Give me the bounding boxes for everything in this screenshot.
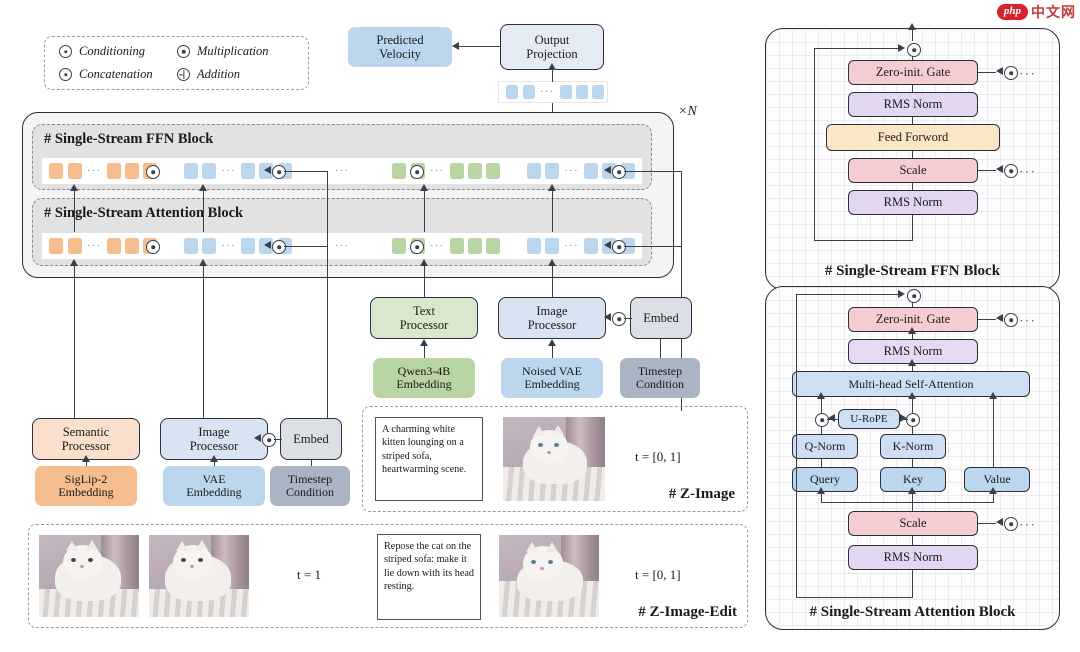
wire xyxy=(912,494,913,503)
arrow-head xyxy=(604,313,611,321)
conditioning-ellipsis: ··· xyxy=(1019,314,1036,327)
token xyxy=(125,238,139,254)
output-projection-line2: Projection xyxy=(526,47,577,61)
conditioning-icon xyxy=(1004,164,1018,178)
arrow-head xyxy=(604,241,611,249)
conditioning-ellipsis: ··· xyxy=(1019,67,1036,80)
multiplication-icon xyxy=(177,45,190,58)
output-projection-line1: Output xyxy=(535,33,570,47)
z-image-edit-source-thumbnail-1 xyxy=(39,535,139,617)
legend-item-multiplication: Multiplication xyxy=(177,44,308,59)
z-image-panel: A charming white kitten lounging on a st… xyxy=(362,406,748,512)
legend-box: Conditioning Multiplication Concatenatio… xyxy=(44,36,309,90)
arrow-head xyxy=(548,184,556,191)
box-line2: Embedding xyxy=(396,378,451,391)
conditioning-ellipsis: ··· xyxy=(1019,165,1036,178)
ffn-rms-norm-bottom-box: RMS Norm xyxy=(848,190,978,215)
arrow-head xyxy=(254,434,261,442)
ffn-rms-norm-top-box: RMS Norm xyxy=(848,92,978,117)
embed-wire-lower xyxy=(327,171,328,431)
z-image-edit-target-t-label: t = [0, 1] xyxy=(635,567,681,583)
ffn-panel-title: # Single-Stream FFN Block xyxy=(766,263,1059,280)
ffn-scale-box: Scale xyxy=(848,158,978,183)
legend-item-concatenation: Concatenation xyxy=(59,67,177,82)
wire xyxy=(912,29,913,41)
siglip2-embedding-box: SigLip-2 Embedding xyxy=(35,466,137,506)
conditioning-ellipsis: ··· xyxy=(1019,518,1036,531)
box-line1: Timestep xyxy=(288,473,332,486)
text-processor-box: Text Processor xyxy=(370,297,478,339)
token xyxy=(184,238,198,254)
ffn-block-title: # Single-Stream FFN Block xyxy=(44,131,213,148)
arrow-head xyxy=(996,165,1003,173)
token xyxy=(450,238,464,254)
residual-wire xyxy=(796,294,900,295)
arrow-head xyxy=(199,184,207,191)
arrow-head xyxy=(898,290,905,298)
token xyxy=(125,163,139,179)
wire xyxy=(624,246,682,247)
arrow-head xyxy=(908,23,916,30)
z-image-edit-prompt: Repose the cat on the striped sofa: make… xyxy=(377,534,481,620)
token-ellipsis: ··· xyxy=(430,241,445,252)
wire xyxy=(284,171,328,172)
wire xyxy=(993,494,994,503)
box-line2: Processor xyxy=(400,318,449,332)
box-line1: VAE xyxy=(202,473,225,486)
conditioning-icon xyxy=(1004,517,1018,531)
wire xyxy=(74,190,75,232)
attn-rms-norm-bottom-box: RMS Norm xyxy=(848,545,978,570)
arrow-head xyxy=(210,455,218,462)
repeat-n-label: ×N xyxy=(678,104,697,120)
box-line2: Embedding xyxy=(524,378,579,391)
box-line2: Processor xyxy=(62,439,111,453)
box-line1: Qwen3-4B xyxy=(398,365,451,378)
wire xyxy=(912,151,913,158)
wire xyxy=(900,419,908,420)
image-processor-box-lower: Image Processor xyxy=(160,418,268,460)
arrow-head xyxy=(908,327,916,334)
arrow-head xyxy=(908,392,916,399)
box-line1: Embed xyxy=(643,311,678,325)
attn-value-box: Value xyxy=(964,467,1030,492)
arrow-head xyxy=(996,67,1003,75)
wire xyxy=(912,459,913,467)
token-ellipsis: ··· xyxy=(335,166,350,177)
wire xyxy=(660,339,661,358)
token xyxy=(450,163,464,179)
residual-wire xyxy=(814,48,900,49)
timestep-condition-box-lower: Timestep Condition xyxy=(270,466,350,506)
arrow-head xyxy=(420,184,428,191)
qwen3-embedding-box: Qwen3-4B Embedding xyxy=(373,358,475,398)
wire xyxy=(552,70,553,82)
attn-q-norm-box: Q-Norm xyxy=(792,434,858,459)
arrow-head xyxy=(828,414,835,422)
wire xyxy=(624,171,682,172)
box-line2: Embedding xyxy=(186,486,241,499)
token xyxy=(392,163,406,179)
token xyxy=(68,238,82,254)
z-image-edit-output-thumbnail xyxy=(499,535,599,617)
arrow-head xyxy=(908,487,916,494)
watermark: php 中文网 xyxy=(997,2,1076,22)
multiplication-icon xyxy=(906,413,920,427)
arrow-head xyxy=(817,392,825,399)
wire xyxy=(912,183,913,190)
conditioning-icon xyxy=(410,165,424,179)
embed-box-lower: Embed xyxy=(280,418,342,460)
arrow-head xyxy=(420,259,428,266)
token xyxy=(241,238,255,254)
token xyxy=(523,85,535,99)
conditioning-icon xyxy=(146,165,160,179)
conditioning-icon xyxy=(1004,66,1018,80)
box-line2: Embedding xyxy=(58,486,113,499)
wire xyxy=(821,459,822,467)
addition-icon xyxy=(907,43,921,57)
token xyxy=(68,163,82,179)
arrow-head xyxy=(420,339,428,346)
attn-urope-box: U-RoPE xyxy=(838,409,900,429)
attn-k-norm-box: K-Norm xyxy=(880,434,946,459)
token-ellipsis: ··· xyxy=(221,241,236,252)
output-token-strip: ··· xyxy=(498,81,608,103)
token xyxy=(584,163,598,179)
image-processor-box-upper: Image Processor xyxy=(498,297,606,339)
wire xyxy=(978,319,996,320)
arrow-head xyxy=(70,184,78,191)
embed-box-upper: Embed xyxy=(630,297,692,339)
wire xyxy=(424,190,425,232)
addition-icon xyxy=(907,289,921,303)
token xyxy=(584,238,598,254)
ffn-feed-forward-box: Feed Forword xyxy=(826,124,1000,151)
wire xyxy=(912,117,913,124)
residual-wire xyxy=(814,240,913,241)
residual-wire xyxy=(796,294,797,598)
arrow-head xyxy=(908,359,916,366)
predicted-velocity-line2: Velocity xyxy=(379,47,421,61)
arrow-head xyxy=(548,259,556,266)
token xyxy=(592,85,604,99)
wire xyxy=(827,419,839,420)
token xyxy=(202,163,216,179)
box-line1: Semantic xyxy=(63,425,110,439)
arrow-head xyxy=(898,44,905,52)
attention-block-detail-panel: Zero-init. Gate RMS Norm Multi-head Self… xyxy=(765,286,1060,630)
token xyxy=(392,238,406,254)
box-line1: Image xyxy=(198,425,229,439)
box-line2: Condition xyxy=(636,378,684,391)
wire xyxy=(74,266,75,430)
conditioning-icon xyxy=(410,240,424,254)
arrow-head xyxy=(989,487,997,494)
token xyxy=(527,163,541,179)
conditioning-icon xyxy=(1004,313,1018,327)
arrow-line xyxy=(458,46,500,47)
z-image-title: # Z-Image xyxy=(669,486,735,503)
wire xyxy=(424,266,425,300)
legend-item-addition: Addition xyxy=(177,67,308,82)
token xyxy=(468,163,482,179)
arrow-head xyxy=(817,487,825,494)
ffn-block-detail-panel: Zero-init. Gate RMS Norm Feed Forword Sc… xyxy=(765,28,1060,290)
vae-embedding-box: VAE Embedding xyxy=(163,466,265,506)
concatenation-icon xyxy=(59,68,72,81)
wire xyxy=(978,170,996,171)
arrow-head xyxy=(996,314,1003,322)
semantic-processor-box: Semantic Processor xyxy=(32,418,140,460)
token xyxy=(241,163,255,179)
token xyxy=(560,85,572,99)
wire xyxy=(311,460,312,466)
wire xyxy=(424,346,425,358)
z-image-output-thumbnail xyxy=(503,417,605,501)
wire xyxy=(912,215,913,241)
noised-vae-embedding-box: Noised VAE Embedding xyxy=(501,358,603,398)
box-line2: Processor xyxy=(190,439,239,453)
wire xyxy=(203,266,204,430)
arrow-head xyxy=(604,166,611,174)
legend-item-conditioning: Conditioning xyxy=(59,44,177,59)
box-line1: Embed xyxy=(293,432,328,446)
wire xyxy=(978,523,996,524)
timestep-condition-box-upper: Timestep Condition xyxy=(620,358,700,398)
box-line1: Timestep xyxy=(638,365,682,378)
attn-query-box: Query xyxy=(792,467,858,492)
box-line1: Text xyxy=(413,304,435,318)
php-logo-icon: php xyxy=(997,4,1028,20)
wire xyxy=(203,190,204,232)
token xyxy=(468,238,482,254)
token-ellipsis: ··· xyxy=(564,241,579,252)
wire xyxy=(284,246,328,247)
token xyxy=(527,238,541,254)
token xyxy=(576,85,588,99)
box-line1: Image xyxy=(536,304,567,318)
token-ellipsis: ··· xyxy=(564,166,579,177)
residual-wire xyxy=(796,597,913,598)
predicted-velocity-box: Predicted Velocity xyxy=(348,27,452,67)
legend-label: Conditioning xyxy=(79,44,145,59)
attention-panel-title: # Single-Stream Attention Block xyxy=(766,604,1059,621)
arrow-head xyxy=(548,63,556,70)
wire xyxy=(624,318,632,319)
box-line2: Condition xyxy=(286,486,334,499)
wire xyxy=(912,570,913,598)
arrow-head xyxy=(199,259,207,266)
arrow-head xyxy=(989,392,997,399)
box-line1: SigLip-2 xyxy=(65,473,108,486)
token xyxy=(202,238,216,254)
wire xyxy=(274,439,282,440)
wire xyxy=(978,72,996,73)
arrow-head xyxy=(452,42,459,50)
predicted-velocity-line1: Predicted xyxy=(376,33,423,47)
z-image-edit-panel: t = 1 Repose the cat on the striped sofa… xyxy=(28,524,748,628)
z-image-edit-title: # Z-Image-Edit xyxy=(638,604,737,621)
wire xyxy=(821,494,822,503)
token xyxy=(486,163,500,179)
token-ellipsis: ··· xyxy=(221,166,236,177)
z-image-prompt: A charming white kitten lounging on a st… xyxy=(375,417,483,501)
wire xyxy=(912,502,913,511)
token-ellipsis: ··· xyxy=(540,87,555,98)
token xyxy=(49,163,63,179)
arrow-head xyxy=(996,518,1003,526)
attn-scale-box: Scale xyxy=(848,511,978,536)
token xyxy=(49,238,63,254)
wire xyxy=(912,85,913,92)
arrow-head xyxy=(70,259,78,266)
legend-label: Concatenation xyxy=(79,67,153,82)
arrow-head xyxy=(264,241,271,249)
wire xyxy=(993,397,994,467)
conditioning-icon xyxy=(59,45,72,58)
ffn-zero-init-gate-box: Zero-init. Gate xyxy=(848,60,978,85)
wire xyxy=(552,266,553,300)
box-line1: Noised VAE xyxy=(522,365,582,378)
wire xyxy=(821,502,993,503)
wire xyxy=(912,536,913,545)
ffn-token-strip: ··· ··· ··· ··· ··· xyxy=(42,158,642,184)
token xyxy=(506,85,518,99)
token xyxy=(107,238,121,254)
arrow-head xyxy=(548,339,556,346)
token-ellipsis: ··· xyxy=(87,166,102,177)
token-ellipsis: ··· xyxy=(335,241,350,252)
watermark-text: 中文网 xyxy=(1031,2,1076,22)
z-image-t-label: t = [0, 1] xyxy=(635,449,681,465)
wire xyxy=(552,190,553,232)
token xyxy=(486,238,500,254)
arrow-head xyxy=(82,455,90,462)
legend-label: Multiplication xyxy=(197,44,269,59)
attention-token-strip: ··· ··· ··· ··· ··· xyxy=(42,233,642,259)
conditioning-icon xyxy=(146,240,160,254)
residual-wire xyxy=(814,48,815,241)
z-image-edit-source-t-label: t = 1 xyxy=(297,567,321,583)
arrow-head xyxy=(264,166,271,174)
wire xyxy=(552,346,553,358)
legend-label: Addition xyxy=(197,67,240,82)
arrow-head xyxy=(900,414,907,422)
z-image-edit-source-thumbnail-2 xyxy=(149,535,249,617)
token xyxy=(545,238,559,254)
token xyxy=(545,163,559,179)
token-ellipsis: ··· xyxy=(87,241,102,252)
token-ellipsis: ··· xyxy=(430,166,445,177)
token xyxy=(184,163,198,179)
token xyxy=(107,163,121,179)
addition-icon xyxy=(177,68,190,81)
box-line2: Processor xyxy=(528,318,577,332)
